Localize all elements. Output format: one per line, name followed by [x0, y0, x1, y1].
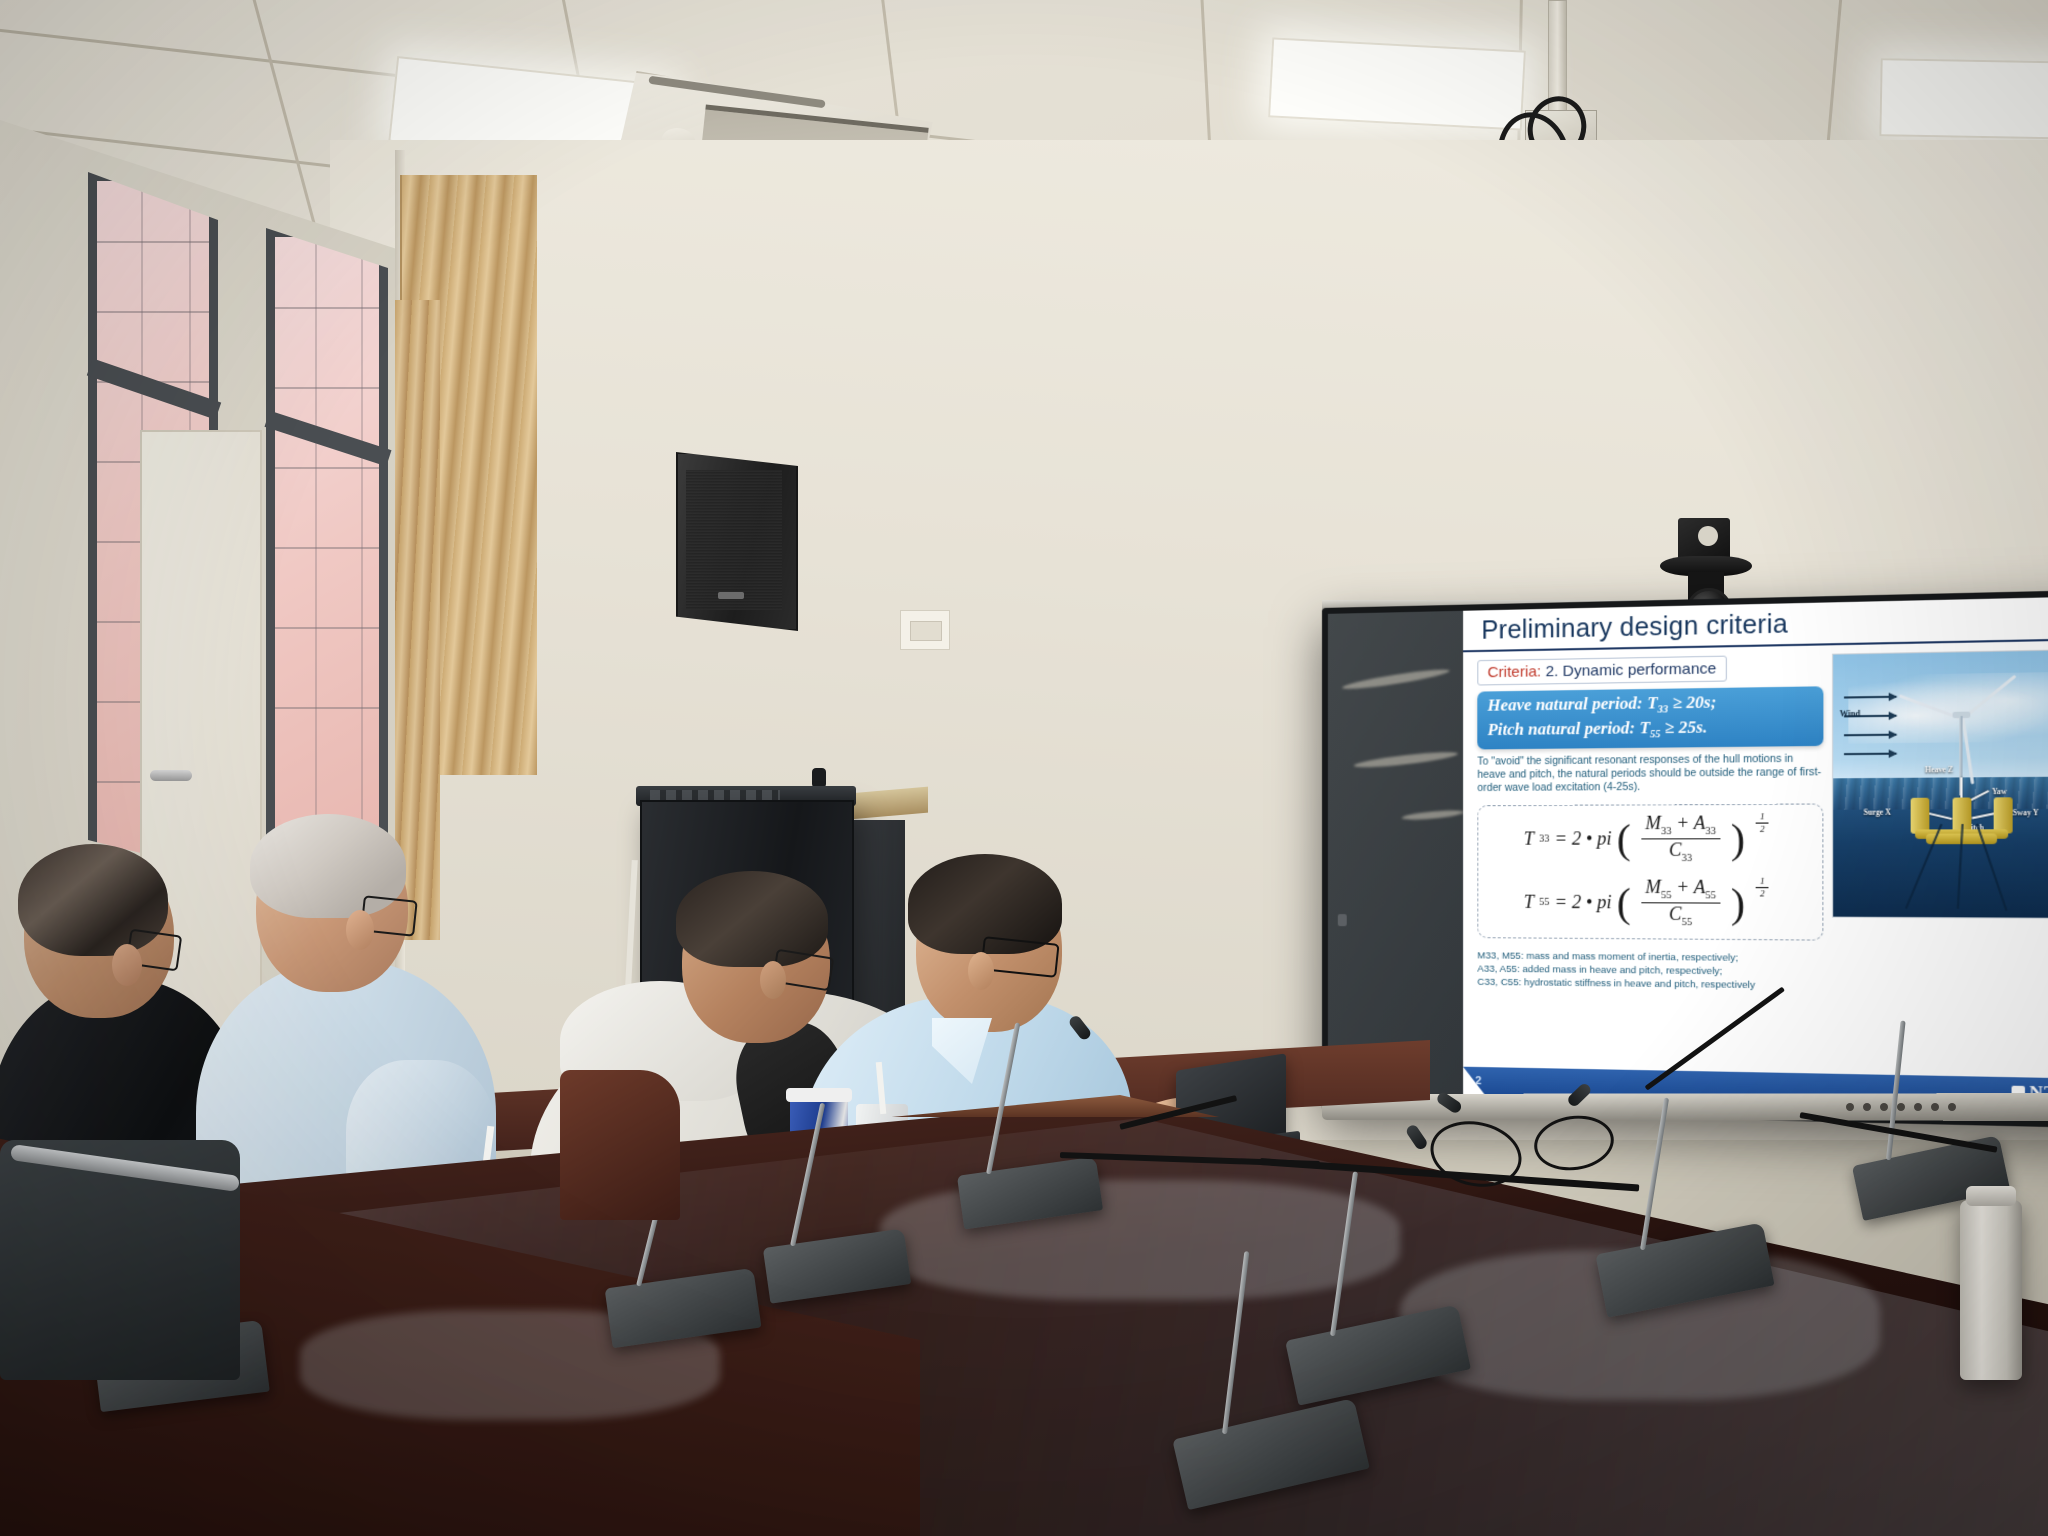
conference-room-screenshot: Preliminary design criteria Criteria: 2.… — [0, 0, 2048, 1536]
ear — [968, 952, 994, 990]
f2-exponent: 12 — [1750, 875, 1774, 899]
wall-outlet[interactable] — [900, 610, 950, 650]
criteria-box: Criteria: 2. Dynamic performance — [1477, 656, 1727, 686]
rack-knob[interactable] — [812, 768, 826, 788]
speaker-grille — [686, 470, 782, 610]
wind-arrow — [1844, 753, 1896, 756]
f1-denominator: C33 — [1669, 839, 1692, 864]
natural-period-highlight: Heave natural period: T33 ≥ 20s; Pitch n… — [1477, 686, 1823, 749]
ear — [760, 961, 786, 999]
f1-lhs: T — [1524, 828, 1534, 849]
f1-paren-close: ) — [1731, 822, 1745, 854]
f1-fraction: M33 + A33 C33 — [1636, 813, 1725, 864]
legend-line: C33, C55: hydrostatic stiffness in heave… — [1477, 976, 1823, 993]
pitch-prefix: Pitch natural period: T — [1487, 718, 1649, 739]
formula-box: T33 = 2 • pi ( M33 + A33 C33 ) 12 — [1477, 803, 1823, 941]
f1-paren-open: ( — [1617, 823, 1631, 855]
f1-eq: = 2 • pi — [1555, 828, 1612, 850]
ear — [112, 944, 142, 986]
f1-lhs-sub: 33 — [1539, 833, 1549, 844]
f2-lhs-sub: 55 — [1539, 897, 1549, 908]
f2-eq: = 2 • pi — [1555, 892, 1612, 914]
f1-exponent: 12 — [1750, 811, 1774, 835]
f2-paren-open: ( — [1617, 887, 1631, 919]
pitch-sub: 55 — [1650, 729, 1660, 740]
presentation-slide: Preliminary design criteria Criteria: 2.… — [1463, 596, 2048, 1109]
f2-lhs: T — [1524, 892, 1534, 913]
window-right — [266, 228, 388, 868]
heave-sub: 33 — [1658, 704, 1669, 715]
camera-bracket-hole — [1698, 526, 1718, 546]
wind-arrow — [1844, 696, 1896, 699]
slide-left-column: Criteria: 2. Dynamic performance Heave n… — [1477, 654, 1823, 1074]
pitch-suffix: ≥ 25s. — [1660, 717, 1707, 737]
f2-denominator: C55 — [1669, 903, 1692, 928]
f2-paren-close: ) — [1731, 887, 1745, 919]
chair-backrest[interactable] — [560, 1070, 680, 1220]
criteria-label: Criteria: — [1487, 663, 1541, 681]
heave-suffix: ≥ 20s; — [1668, 692, 1716, 712]
door-handle[interactable] — [150, 770, 192, 781]
wind-arrow — [1844, 734, 1896, 737]
ear — [346, 910, 374, 950]
platform-column — [1993, 797, 2012, 833]
wall-display[interactable]: Preliminary design criteria Criteria: 2.… — [1322, 590, 2048, 1129]
coffee-cup-lid — [786, 1088, 852, 1102]
thermos-flask — [1960, 1200, 2022, 1380]
tv-letterbox — [1328, 611, 1463, 1107]
sky-clouds — [1848, 672, 2048, 744]
tv-control-buttons[interactable] — [1846, 1102, 2006, 1112]
table-reflection-highlight — [880, 1180, 1400, 1300]
wind-label: Wind — [1840, 709, 1861, 719]
heave-prefix: Heave natural period: T — [1487, 693, 1657, 715]
slide-right-column: Wind Heave Z Yaw Surge X Sway Y — [1832, 649, 2048, 1079]
dof-label-surge: Surge X — [1864, 808, 1891, 817]
curtain — [395, 300, 440, 940]
f2-fraction: M55 + A55 C55 — [1636, 877, 1725, 928]
slide-body-text: To "avoid" the significant resonant resp… — [1477, 752, 1823, 796]
slide-body: Criteria: 2. Dynamic performance Heave n… — [1463, 640, 2048, 1079]
floating-turbine-diagram: Wind Heave Z Yaw Surge X Sway Y — [1832, 649, 2048, 919]
slide-page-number: 2 — [1475, 1075, 1481, 1087]
dof-label-heave: Heave Z — [1925, 766, 1953, 775]
dof-label-sway: Sway Y — [2013, 809, 2039, 818]
f2-numerator: M55 + A55 — [1641, 877, 1720, 903]
formula-legend: M33, M55: mass and mass moment of inerti… — [1477, 950, 1823, 993]
f1-numerator: M33 + A33 — [1641, 813, 1720, 839]
formula-heave: T33 = 2 • pi ( M33 + A33 C33 ) 12 — [1524, 813, 1775, 864]
ceiling-light-panel — [1268, 37, 1526, 130]
speaker-logo — [718, 592, 744, 599]
formula-pitch: T55 = 2 • pi ( M55 + A55 C55 ) 12 — [1524, 877, 1775, 929]
tv-sensor — [1338, 914, 1347, 926]
ceiling-light-panel — [1879, 58, 2048, 140]
pitch-period-line: Pitch natural period: T55 ≥ 25s. — [1487, 716, 1812, 744]
platform-column — [1910, 798, 1929, 834]
criteria-text: 2. Dynamic performance — [1546, 660, 1717, 680]
thermos-cap — [1966, 1186, 2016, 1206]
